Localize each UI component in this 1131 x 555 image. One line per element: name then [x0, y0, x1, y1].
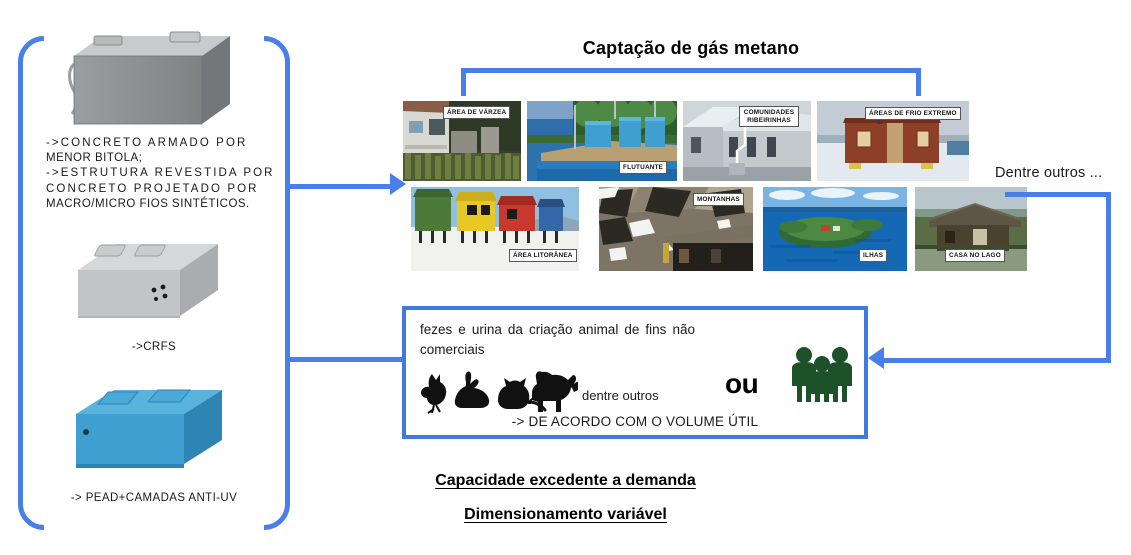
photo-lake-house[interactable]: CASA NO LAGO	[915, 187, 1027, 271]
waste-source-box: fezes e urina da criação animal de fins …	[402, 306, 868, 439]
crfs-tank-image	[70, 226, 222, 336]
photo-label-montanhas: MONTANHAS	[693, 193, 744, 206]
photo-riverside-community[interactable]: COMUNIDADESRIBEIRINHAS	[683, 101, 811, 181]
right-loop-top	[1005, 192, 1111, 197]
people-group-icon	[791, 344, 853, 409]
pead-tank-image	[66, 378, 226, 486]
crfs-caption: ->CRFS	[18, 341, 290, 353]
photo-label-ribeirinhas: COMUNIDADESRIBEIRINHAS	[739, 106, 799, 127]
photo-extreme-cold-cabin[interactable]: ÁREAS DE FRIO EXTREMO	[817, 101, 969, 181]
spec-line-2: MENOR BITOLA;	[46, 151, 278, 166]
diagram-canvas: ->CONCRETO ARMADO POR MENOR BITOLA; ->ES…	[0, 0, 1131, 555]
photo-label-ilhas: ILHAS	[859, 249, 887, 262]
photo-floating-platform[interactable]: FLUTUANTE	[527, 101, 677, 181]
photo-label-litoranea: ÁREA LITORÂNEA	[509, 249, 577, 262]
photo-label-varzea: ÁREA DE VÁRZEA	[443, 106, 510, 119]
volume-note: -> DE ACORDO COM O VOLUME ÚTIL	[406, 414, 864, 429]
spec-line-4: CONCRETO PROJETADO POR	[46, 182, 278, 197]
photo-label-casa-no-lago: CASA NO LAGO	[945, 249, 1005, 262]
photo-label-frio-extremo: ÁREAS DE FRIO EXTREMO	[865, 107, 961, 120]
right-loop-vertical	[1106, 192, 1111, 363]
conjunction-ou: ou	[725, 368, 758, 400]
application-photo-grid: ÁREA DE VÁRZEA	[403, 101, 1003, 286]
footer-line-2: Dimensionamento variável	[0, 506, 1131, 524]
dog-icon	[528, 371, 578, 412]
chicken-icon	[421, 374, 446, 413]
more-applications-label: Dentre outros ...	[995, 165, 1102, 181]
photo-mountain-cabin[interactable]: MONTANHAS	[599, 187, 753, 271]
concrete-reinforced-tank-image	[62, 20, 232, 132]
footer-line-1: Capacidade excedente a demanda	[0, 472, 1131, 490]
spec-line-3: ->ESTRUTURA REVESTIDA POR	[46, 166, 278, 181]
pead-caption: -> PEAD+CAMADAS ANTI-UV	[18, 492, 290, 504]
photo-varzea-house[interactable]: ÁREA DE VÁRZEA	[403, 101, 521, 181]
arrow-into-source-box-icon	[868, 347, 884, 369]
page-title: Captação de gás metano	[460, 38, 922, 59]
animal-icons-row	[418, 368, 578, 419]
connector-to-source-box	[288, 357, 406, 362]
connector-to-photos	[288, 184, 392, 189]
spec-line-1: ->CONCRETO ARMADO POR	[46, 136, 278, 151]
photo-beach-huts[interactable]: ÁREA LITORÂNEA	[411, 187, 579, 271]
right-loop-bottom	[884, 358, 1111, 363]
methane-capture-bracket	[461, 68, 921, 96]
spec-line-5: MACRO/MICRO FIOS SINTÉTICOS.	[46, 197, 278, 212]
photo-label-flutuante: FLUTUANTE	[619, 161, 667, 174]
animals-more-label: dentre outros	[582, 388, 659, 403]
photo-island[interactable]: ILHAS	[763, 187, 907, 271]
waste-source-headline: fezes e urina da criação animal de fins …	[420, 320, 695, 359]
footer-line-1-text: Capacidade excedente a demanda	[435, 472, 696, 489]
footer-line-2-text: Dimensionamento variável	[464, 506, 667, 523]
concrete-spec-text: ->CONCRETO ARMADO POR MENOR BITOLA; ->ES…	[46, 136, 278, 212]
rabbit-icon	[455, 371, 489, 408]
